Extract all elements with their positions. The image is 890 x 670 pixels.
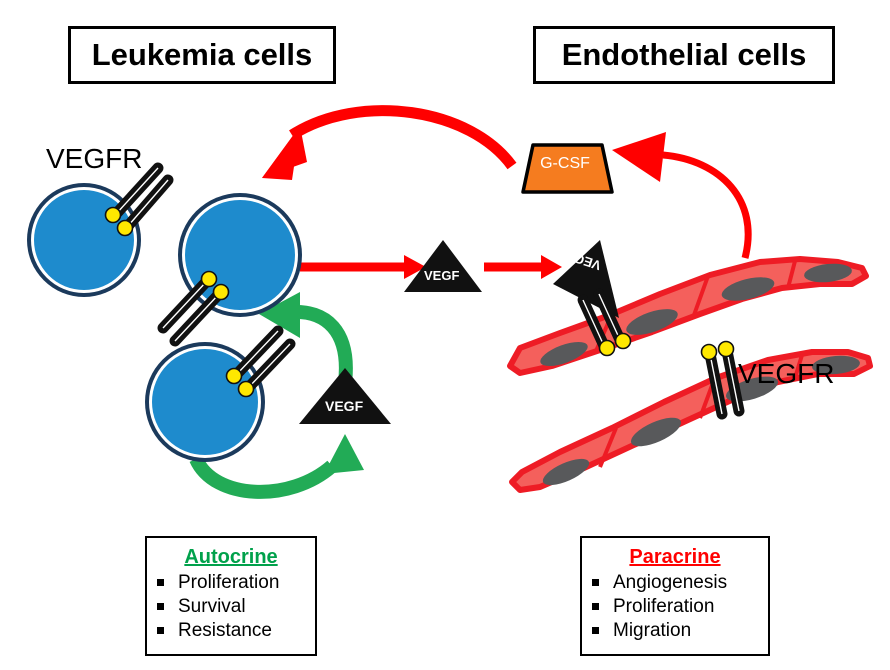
leukemia-cell-3	[145, 331, 290, 462]
leukemia-cell-1	[27, 168, 168, 297]
bullet-square-icon	[592, 627, 599, 634]
header-leukemia-cells: Leukemia cells	[68, 26, 336, 84]
arrow-vegf-to-endothelial	[484, 255, 562, 279]
arrow-gcsf-to-leukemia	[262, 111, 512, 180]
legend-paracrine-title: Paracrine	[592, 546, 758, 568]
list-item: Proliferation	[157, 571, 305, 594]
bullet-square-icon	[157, 579, 164, 586]
vegf-ligand-autocrine	[299, 368, 391, 424]
list-item: Survival	[157, 595, 305, 618]
list-item: Proliferation	[592, 595, 758, 618]
legend-paracrine-list: Angiogenesis Proliferation Migration	[592, 571, 758, 643]
vegfr-label-leukemia: VEGFR	[46, 143, 142, 175]
legend-item-label: Resistance	[178, 619, 272, 642]
legend-item-label: Proliferation	[178, 571, 279, 594]
arrow-vessel-to-gcsf	[612, 132, 748, 258]
legend-paracrine: Paracrine Angiogenesis Proliferation Mig…	[580, 536, 770, 656]
bullet-square-icon	[157, 627, 164, 634]
arrow-leukemia-to-vegf	[300, 255, 426, 279]
bullet-square-icon	[592, 579, 599, 586]
legend-item-label: Survival	[178, 595, 246, 618]
legend-item-label: Angiogenesis	[613, 571, 727, 594]
list-item: Angiogenesis	[592, 571, 758, 594]
legend-autocrine-list: Proliferation Survival Resistance	[157, 571, 305, 643]
figure-canvas: Leukemia cells Endothelial cells VEGFR V…	[0, 0, 890, 670]
legend-item-label: Proliferation	[613, 595, 714, 618]
list-item: Resistance	[157, 619, 305, 642]
bullet-square-icon	[157, 603, 164, 610]
bullet-square-icon	[592, 603, 599, 610]
gcsf-factor	[523, 145, 612, 192]
vegfr-label-endothelial: VEGFR	[738, 358, 834, 390]
list-item: Migration	[592, 619, 758, 642]
legend-item-label: Migration	[613, 619, 691, 642]
header-endothelial-cells: Endothelial cells	[533, 26, 835, 84]
legend-autocrine: Autocrine Proliferation Survival Resista…	[145, 536, 317, 656]
legend-autocrine-title: Autocrine	[157, 546, 305, 568]
